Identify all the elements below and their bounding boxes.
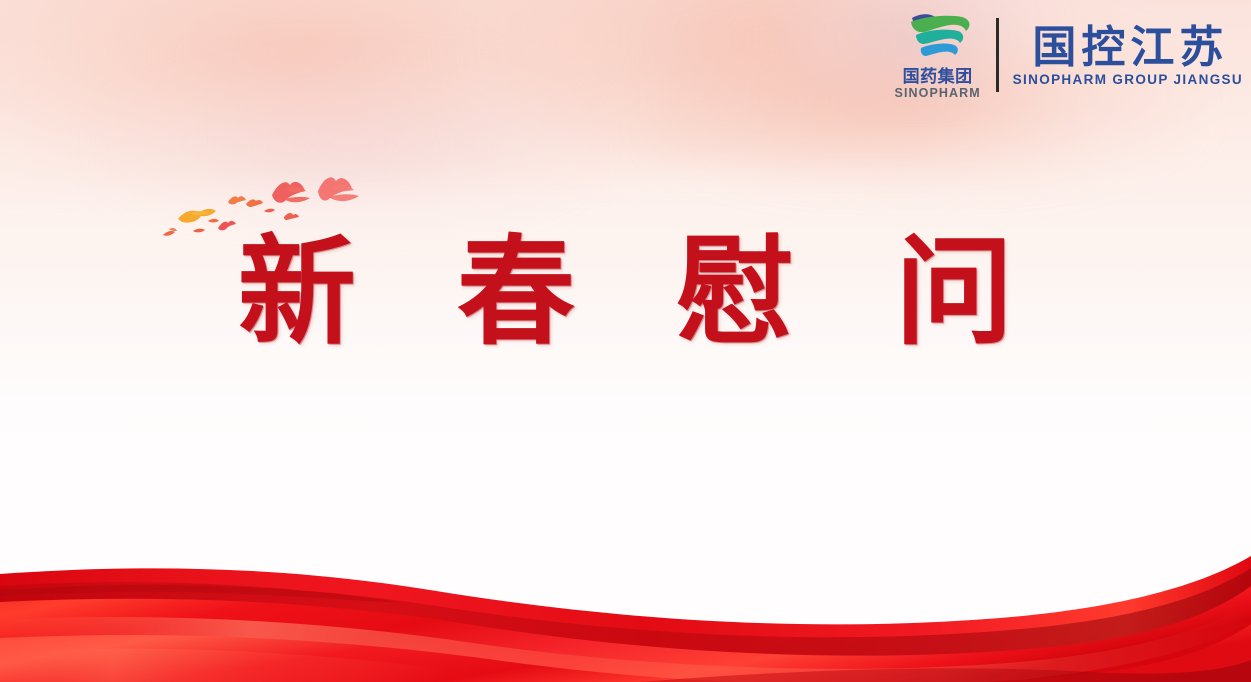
sinopharm-en-label: SINOPHARM xyxy=(895,87,981,101)
jiangsu-en-label: SINOPHARM GROUP JIANGSU xyxy=(1013,73,1243,88)
red-silk-ribbon xyxy=(0,542,1251,682)
logo-divider xyxy=(996,18,999,92)
sinopharm-jiangsu-logo[interactable]: 国控江苏 SINOPHARM GROUP JIANGSU xyxy=(1013,22,1243,88)
jiangsu-cn-label: 国控江苏 xyxy=(1027,24,1228,72)
sinopharm-cn-label: 国药集团 xyxy=(903,68,973,87)
sinopharm-logo[interactable]: 国药集团 SINOPHARM xyxy=(890,9,986,101)
brand-logo-lockup[interactable]: 国药集团 SINOPHARM 国控江苏 SINOPHARM GROUP JIAN… xyxy=(890,6,1243,104)
flying-birds-flock-icon xyxy=(160,165,380,245)
poster-canvas: 新 春 慰 问 国药集团 SINOPHARM 国控江苏 SINOPHARM GR… xyxy=(0,0,1251,682)
sinopharm-wave-mark-icon xyxy=(902,11,974,65)
